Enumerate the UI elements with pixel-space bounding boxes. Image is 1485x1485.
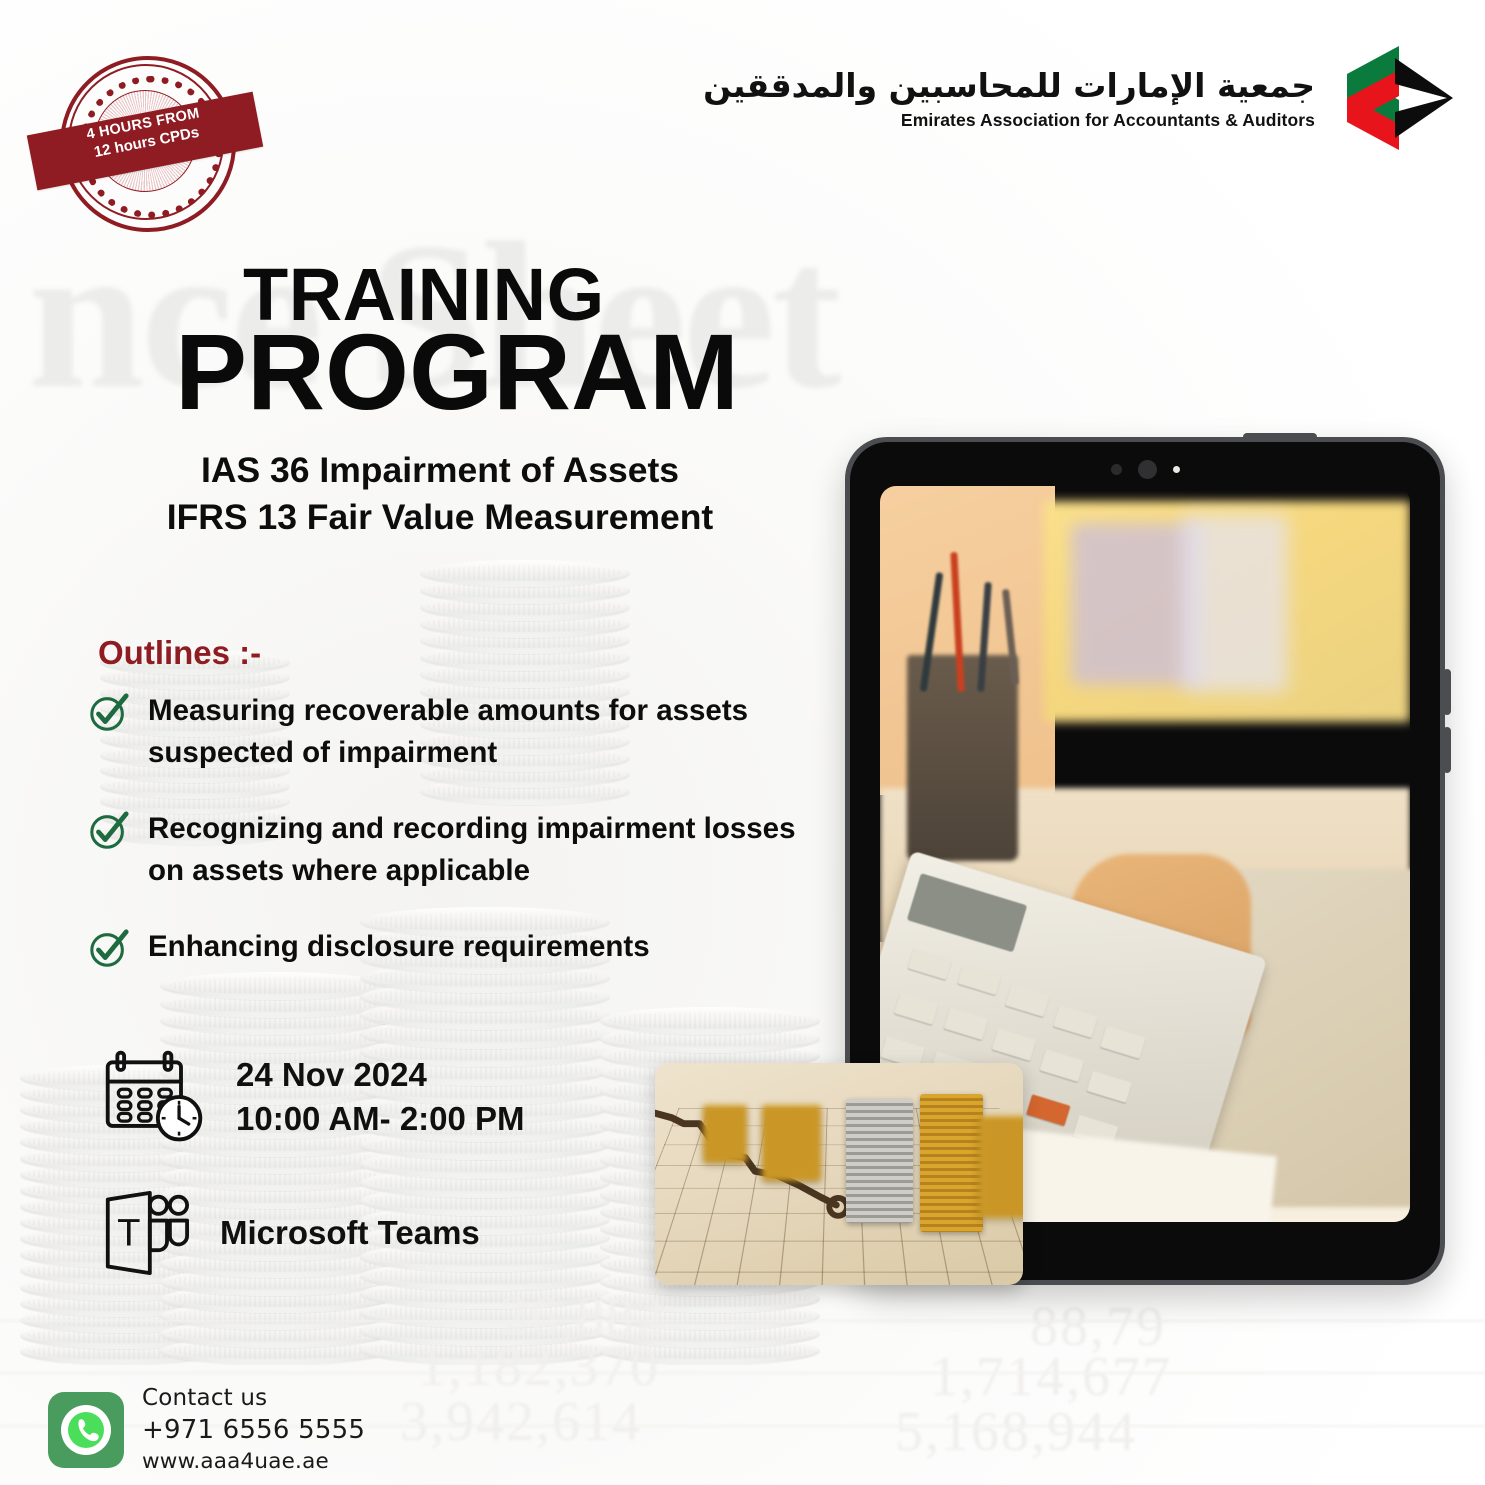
schedule-row: 24 Nov 2024 10:00 AM- 2:00 PM [100, 1048, 525, 1146]
whatsapp-icon[interactable] [48, 1392, 124, 1468]
coin-stack-back-1 [703, 1105, 747, 1163]
outline-item-text: Enhancing disclosure requirements [148, 926, 650, 968]
platform-name: Microsoft Teams [220, 1211, 480, 1255]
contact-label: Contact us [142, 1384, 365, 1414]
outlines-heading: Outlines :- [98, 634, 261, 672]
cpd-hours-badge: 4 HOURS FROM 12 hours CPDs [42, 30, 247, 220]
organization-logo: جمعية الإمارات للمحاسبين والمدققين Emira… [703, 44, 1457, 152]
background-rule-1 [0, 1372, 1485, 1374]
tablet-volume-down-button [1443, 727, 1451, 773]
check-circle-icon [88, 692, 130, 734]
tablet-camera-array [850, 460, 1440, 478]
coin-stack-edge [979, 1116, 1023, 1218]
contact-phone[interactable]: +971 6556 5555 [142, 1414, 365, 1448]
camera-lens-icon [1138, 460, 1157, 479]
contact-details: Contact us +971 6556 5555 www.aaa4uae.ae [142, 1384, 365, 1476]
camera-led-icon [1173, 466, 1180, 473]
event-date: 24 Nov 2024 [236, 1053, 525, 1097]
background-number-right-2: 5,168,944 [895, 1400, 1137, 1464]
svg-text:T: T [117, 1211, 140, 1254]
calendar-clock-icon [100, 1048, 208, 1146]
outline-item: Measuring recoverable amounts for assets… [88, 690, 818, 774]
coin-stack-1 [160, 983, 390, 1365]
logo-english-name: Emirates Association for Accountants & A… [703, 110, 1315, 131]
logo-text-block: جمعية الإمارات للمحاسبين والمدققين Emira… [703, 65, 1315, 131]
poster-canvas: nce Sheet 26,8821,182,3703,942,61488,791… [0, 0, 1485, 1485]
sensor-dot-icon [1111, 464, 1122, 475]
logo-chevron-mark [1329, 44, 1457, 152]
logo-arabic-name: جمعية الإمارات للمحاسبين والمدققين [703, 65, 1315, 106]
platform-row: T Microsoft Teams [100, 1190, 480, 1276]
background-rule-0 [0, 1320, 1485, 1322]
tablet-power-button [1243, 433, 1317, 441]
contact-website[interactable]: www.aaa4uae.ae [142, 1448, 365, 1476]
background-number-left-2: 3,942,614 [400, 1390, 642, 1454]
check-circle-icon [88, 810, 130, 852]
microsoft-teams-icon: T [100, 1190, 192, 1276]
outlines-list: Measuring recoverable amounts for assets… [88, 690, 818, 1004]
page-subtitle: IAS 36 Impairment of Assets IFRS 13 Fair… [120, 447, 760, 541]
page-title-line-2: PROGRAM [175, 318, 739, 426]
outline-item: Recognizing and recording impairment los… [88, 808, 818, 892]
check-circle-icon [88, 928, 130, 970]
tablet-volume-up-button [1443, 669, 1451, 715]
event-time: 10:00 AM- 2:00 PM [236, 1097, 525, 1141]
outline-item: Enhancing disclosure requirements [88, 926, 818, 970]
outline-item-text: Measuring recoverable amounts for assets… [148, 690, 808, 774]
outline-item-text: Recognizing and recording impairment los… [148, 808, 808, 892]
subtitle-standard-ias36: IAS 36 Impairment of Assets [120, 447, 760, 494]
coin-stack-back-2 [762, 1105, 821, 1180]
inset-photo-coins-chart [655, 1063, 1023, 1285]
schedule-text: 24 Nov 2024 10:00 AM- 2:00 PM [236, 1053, 525, 1141]
contact-block[interactable]: Contact us +971 6556 5555 www.aaa4uae.ae [48, 1384, 365, 1476]
coin-stack-gold [920, 1094, 983, 1232]
subtitle-standard-ifrs13: IFRS 13 Fair Value Measurement [120, 494, 760, 541]
coin-stack-silver [846, 1099, 912, 1223]
